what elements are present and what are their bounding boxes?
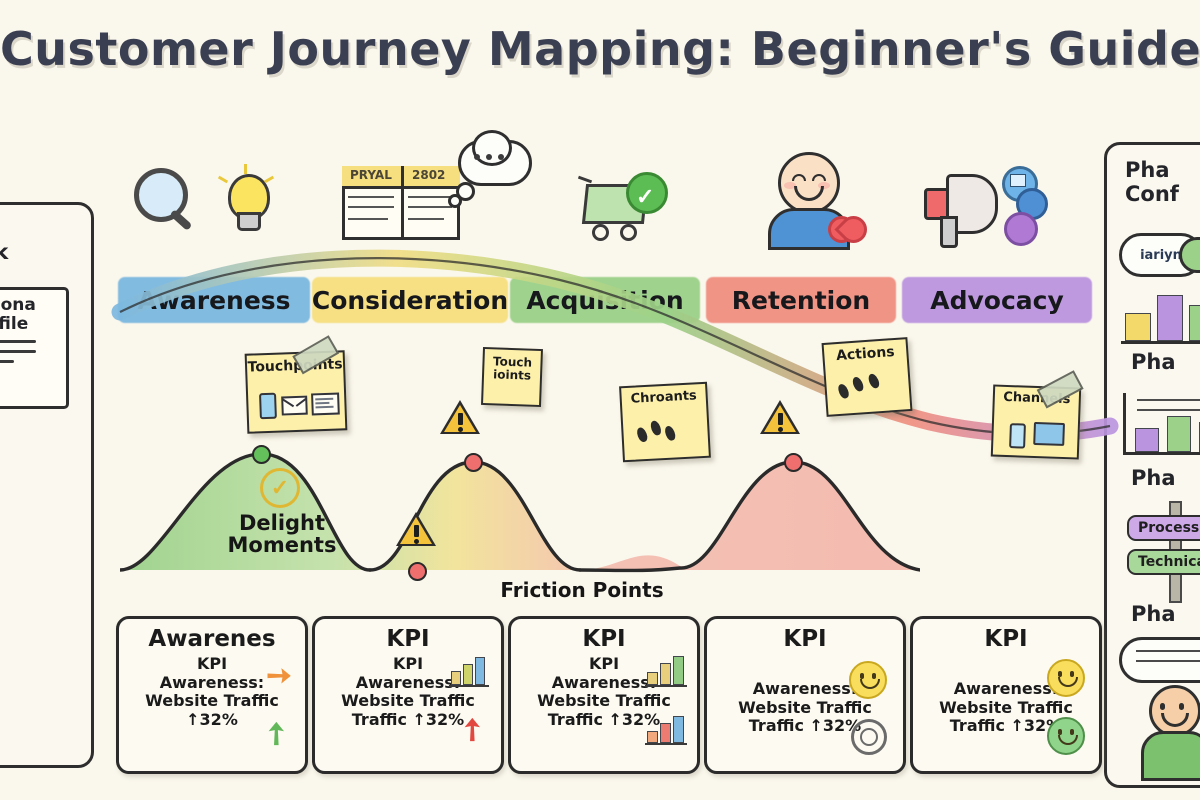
bar-chart-icon <box>645 657 687 685</box>
kpi-card-2-line-3: Website Traffic <box>315 692 501 711</box>
right-panel-heading-4: Pha <box>1131 603 1176 627</box>
sticky-note-channels[interactable]: Channels <box>991 384 1081 459</box>
tag-process[interactable]: Process <box>1127 515 1200 541</box>
kpi-card-2-title: KPI <box>315 626 501 652</box>
mobile-icon <box>1009 423 1026 449</box>
envelope-icon <box>281 396 308 416</box>
sticky-label-thoughts: Chroants <box>621 389 706 407</box>
bar-chart-icon <box>645 717 687 743</box>
kpi-card-4[interactable]: KPI Awareness: Website Traffic Traffic ↑… <box>704 616 906 774</box>
right-panel-heading-1-line1: Pha <box>1125 159 1179 183</box>
browser-icon <box>311 392 340 415</box>
right-panel-heading-3: Pha <box>1131 467 1176 491</box>
sticky-label-actions: Actions <box>824 344 907 364</box>
kpi-card-row: Awarenes KPI Awareness: Website Traffic … <box>116 616 1096 774</box>
smiley-yellow-icon <box>1047 659 1085 697</box>
check-glyph: ✓ <box>271 475 289 501</box>
kpi-card-5-title: KPI <box>913 626 1099 652</box>
page-title: Customer Journey Mapping: Beginner's Gui… <box>0 22 1200 76</box>
kpi-card-5[interactable]: KPI Awareness: Website Traffic Traffic ↑… <box>910 616 1102 774</box>
delight-label-line2: Moments <box>212 534 352 556</box>
mobile-icon <box>259 393 277 420</box>
comparison-table-header-left: PRYAL <box>350 168 392 182</box>
shopping-cart-check-icon: ✓ <box>578 164 668 240</box>
happy-person-heart-icon <box>756 152 866 242</box>
curve-node-peak-2[interactable] <box>464 453 483 472</box>
kpi-card-2[interactable]: KPI KPI Awareness: Website Traffic Traff… <box>312 616 504 774</box>
monitor-icon <box>1033 422 1065 446</box>
kpi-card-4-line-3: Website Traffic <box>707 699 903 718</box>
right-panel-heading-1-line2: Conf <box>1125 183 1179 207</box>
whiteboard-canvas: Customer Journey Mapping: Beginner's Gui… <box>0 0 1200 800</box>
curve-node-peak-1[interactable] <box>252 445 271 464</box>
kpi-card-1-title: Awarenes <box>119 626 305 652</box>
spiral-icon <box>851 719 887 755</box>
magnifier-icon <box>134 168 200 238</box>
kpi-card-4-title: KPI <box>707 626 903 652</box>
smiley-green-icon <box>1047 717 1085 755</box>
signpost-icon: Process Technical <box>1127 501 1200 601</box>
sticky-note-actions[interactable]: Actions <box>822 337 913 417</box>
curve-node-peak-3[interactable] <box>784 453 803 472</box>
emotion-curve-chart: ✓ Delight Moments Friction Points <box>120 420 920 610</box>
megaphone-icon <box>916 170 1046 250</box>
left-panel-heading-line1: se 1 <box>0 217 8 241</box>
tag-technical[interactable]: Technical <box>1127 549 1200 575</box>
kpi-card-5-line-3: Website Traffic <box>913 699 1099 718</box>
kpi-card-1[interactable]: Awarenes KPI Awareness: Website Traffic … <box>116 616 308 774</box>
kpi-card-3-line-3: Website Traffic <box>511 692 697 711</box>
bar-chart-icon <box>449 657 489 685</box>
sticky-label-touch-line2: ioints <box>484 368 540 383</box>
curve-node-valley-1[interactable] <box>408 562 427 581</box>
kpi-card-3[interactable]: KPI KPI Awareness: Website Traffic Traff… <box>508 616 700 774</box>
friction-points-label: Friction Points <box>472 580 692 601</box>
delight-label-line1: Delight <box>212 512 352 534</box>
smiley-yellow-icon <box>849 661 887 699</box>
delight-check-badge: ✓ <box>260 468 300 508</box>
delight-moments-label: Delight Moments <box>212 512 352 557</box>
comparison-table-icon: PRYAL 2802 <box>342 166 460 240</box>
cheering-person-icon <box>1131 685 1200 775</box>
sticky-note-touch-points[interactable]: Touch ioints <box>481 347 543 407</box>
thought-cloud-icon <box>452 136 532 196</box>
kpi-card-3-title: KPI <box>511 626 697 652</box>
person-speech-bubble-icon <box>1119 637 1200 683</box>
comparison-table-header-right: 2802 <box>412 168 445 182</box>
lightbulb-icon <box>214 164 276 242</box>
